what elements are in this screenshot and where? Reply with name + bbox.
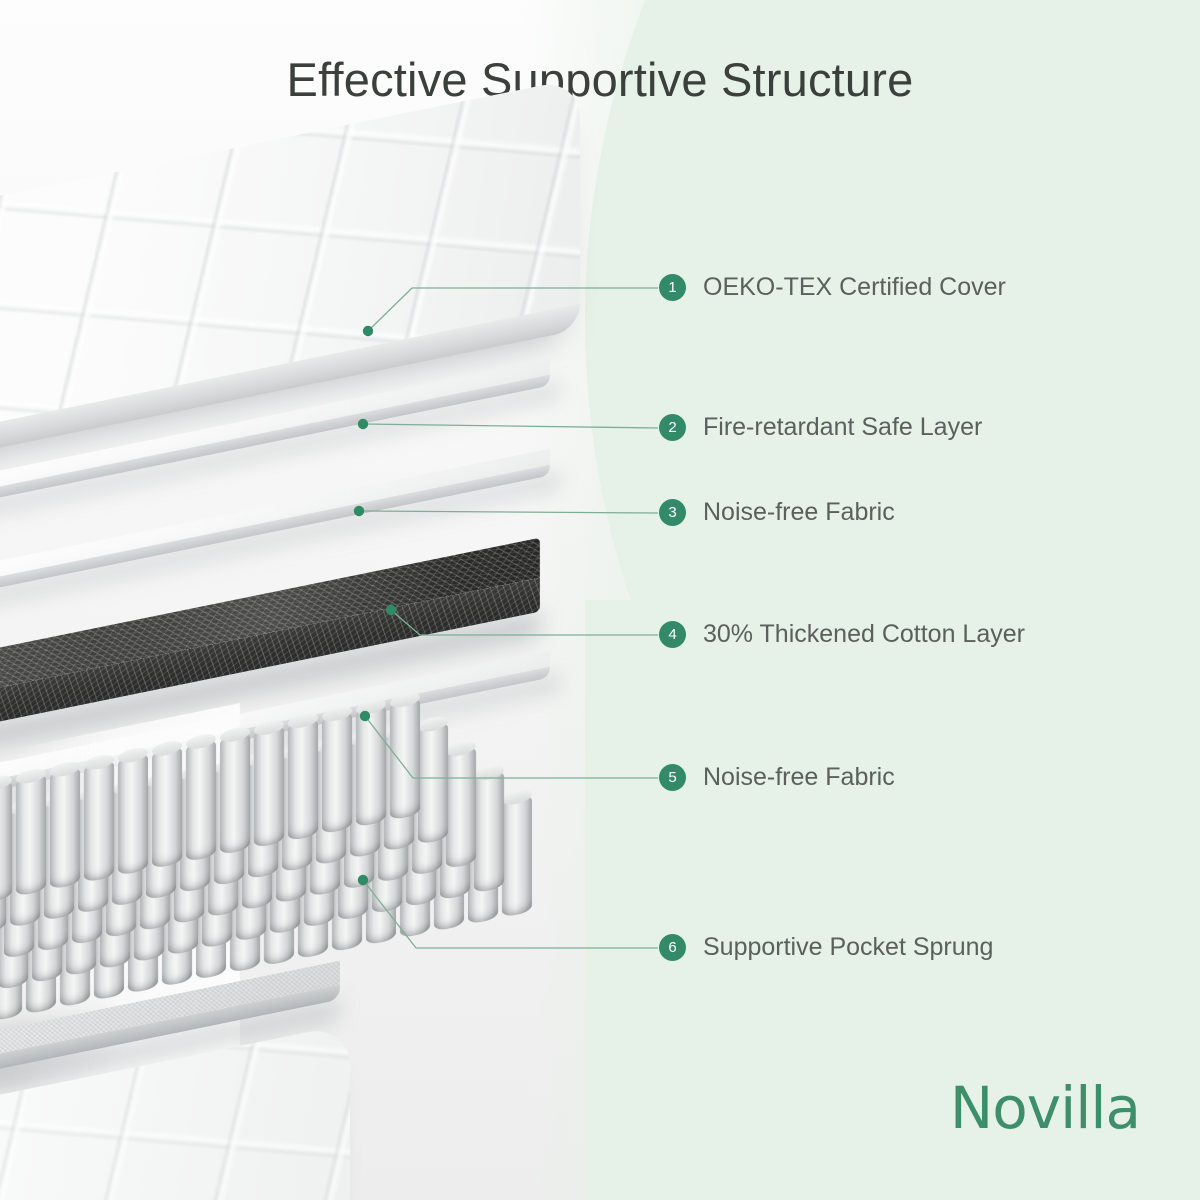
callout-label-4: 30% Thickened Cotton Layer — [703, 621, 1025, 648]
callout-badge-5[interactable]: 5 — [659, 764, 686, 791]
callout-label-5: Noise-free Fabric — [703, 764, 895, 791]
callout-badge-4[interactable]: 4 — [659, 621, 686, 648]
callout-badge-2[interactable]: 2 — [659, 414, 686, 441]
callout-list: 1 OEKO-TEX Certified Cover 2 Fire-retard… — [0, 0, 1200, 1200]
callout-label-3: Noise-free Fabric — [703, 499, 895, 526]
callout-badge-3[interactable]: 3 — [659, 499, 686, 526]
callout-badge-1[interactable]: 1 — [659, 274, 686, 301]
callout-label-1: OEKO-TEX Certified Cover — [703, 274, 1006, 301]
callout-badge-6[interactable]: 6 — [659, 934, 686, 961]
callout-label-2: Fire-retardant Safe Layer — [703, 414, 982, 441]
brand-logo: Novilla — [950, 1074, 1140, 1142]
infographic-stage: Effective Supportive Structure — [0, 0, 1200, 1200]
callout-label-6: Supportive Pocket Sprung — [703, 934, 993, 961]
